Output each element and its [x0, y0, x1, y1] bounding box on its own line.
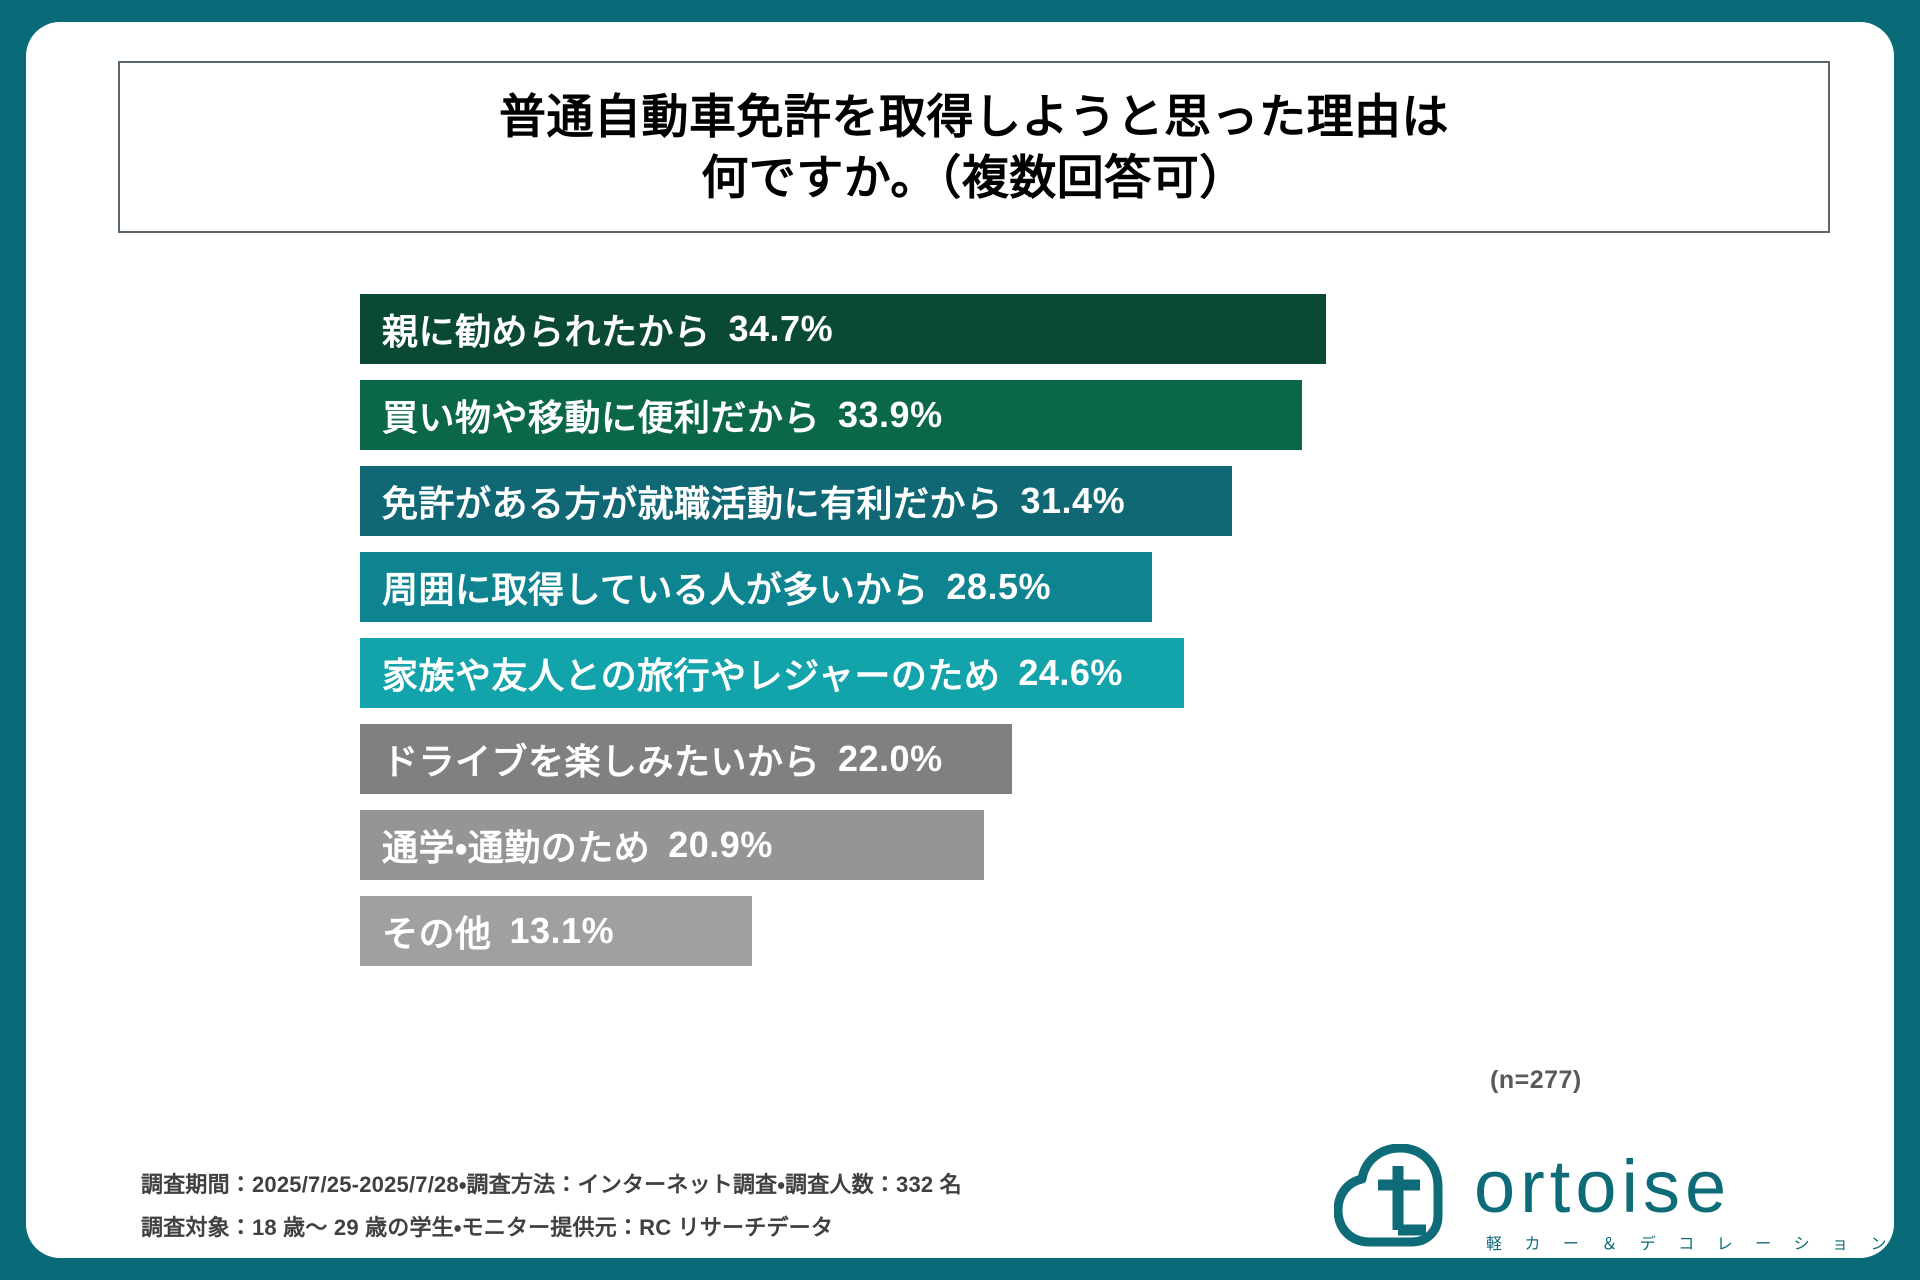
sample-size-note: (n=277) — [1490, 1066, 1582, 1095]
footnote-line-2: 調査対象：18 歳〜 29 歳の学生・モニター提供元：RC リサーチデータ — [141, 1207, 962, 1250]
bar-row: 家族や友人との旅行やレジャーのため24.6% — [26, 638, 1894, 708]
bar-row: 周囲に取得している人が多いから28.5% — [26, 552, 1894, 622]
bar-rect — [360, 466, 1232, 536]
title-box: 普通自動車免許を取得しようと思った理由は 何ですか。（複数回答可） — [118, 61, 1830, 233]
bar-rect — [360, 380, 1302, 450]
bar-rect — [360, 552, 1152, 622]
bar-rect — [360, 810, 984, 880]
bar-row: ドライブを楽しみたいから22.0% — [26, 724, 1894, 794]
bar-row: 買い物や移動に便利だから33.9% — [26, 380, 1894, 450]
page-title: 普通自動車免許を取得しようと思った理由は 何ですか。（複数回答可） — [499, 86, 1449, 208]
bar-chart: 親に勧められたから34.7%買い物や移動に便利だから33.9%免許がある方が就職… — [26, 294, 1894, 982]
bar-row: 親に勧められたから34.7% — [26, 294, 1894, 364]
bar-row: その他13.1% — [26, 896, 1894, 966]
logo-wordmark: ortoise — [1474, 1150, 1731, 1224]
bar-rect — [360, 638, 1184, 708]
logo-tagline: 軽 カ ー ＆ デ コ レ ー シ ョ ン — [1486, 1230, 1895, 1254]
bar-rect — [360, 294, 1326, 364]
bar-row: 免許がある方が就職活動に有利だから31.4% — [26, 466, 1894, 536]
bar-rect — [360, 896, 752, 966]
survey-footnote: 調査期間：2025/7/25-2025/7/28・調査方法：インターネット調査・… — [141, 1164, 962, 1250]
tortoise-mark-icon — [1334, 1144, 1464, 1250]
tortoise-logo: ortoise 軽 カ ー ＆ デ コ レ ー シ ョ ン — [1334, 1144, 1874, 1264]
slide-panel: 普通自動車免許を取得しようと思った理由は 何ですか。（複数回答可） 親に勧められ… — [26, 22, 1894, 1258]
footnote-line-1: 調査期間：2025/7/25-2025/7/28・調査方法：インターネット調査・… — [141, 1164, 962, 1207]
bar-rect — [360, 724, 1012, 794]
bar-row: 通学・通勤のため20.9% — [26, 810, 1894, 880]
